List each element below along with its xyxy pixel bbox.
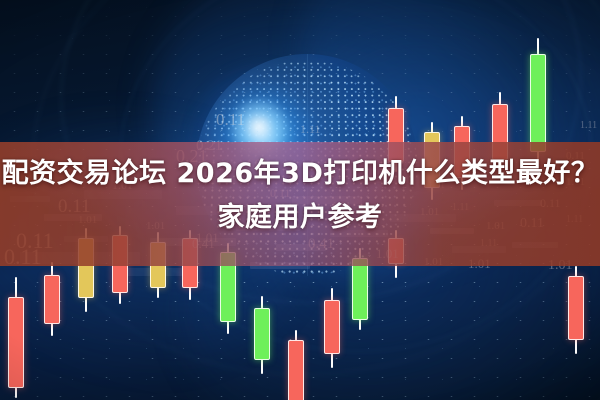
- candle-body: [288, 340, 304, 400]
- floating-value: 1.11: [580, 120, 597, 131]
- bar-glyph: [120, 268, 194, 276]
- title-line-2: 家庭用户参考: [0, 196, 600, 240]
- candle-body: [44, 275, 60, 324]
- candle-body: [568, 276, 584, 340]
- candle-body: [530, 54, 546, 152]
- candle-wick: [15, 277, 17, 398]
- page-title: 配资交易论坛 2026年3D打印机什么类型最好？ 家庭用户参考: [0, 152, 600, 240]
- candle-wick: [295, 330, 297, 400]
- banner-image: 0.110.110.111.011.011.011.010.210.110.21…: [0, 0, 600, 400]
- candle-body: [324, 300, 340, 354]
- candlestick: [44, 262, 60, 336]
- candle-wick: [575, 266, 577, 354]
- candle-wick: [51, 262, 53, 336]
- title-line-1: 配资交易论坛 2026年3D打印机什么类型最好？: [2, 158, 599, 189]
- candlestick: [568, 266, 584, 354]
- candlestick: [324, 288, 340, 368]
- candle-wick: [331, 288, 333, 368]
- candlestick: [8, 277, 24, 398]
- candle-wick: [261, 296, 263, 374]
- candle-body: [254, 308, 270, 360]
- candle-body: [8, 297, 24, 388]
- candlestick: [288, 330, 304, 400]
- candlestick: [254, 296, 270, 374]
